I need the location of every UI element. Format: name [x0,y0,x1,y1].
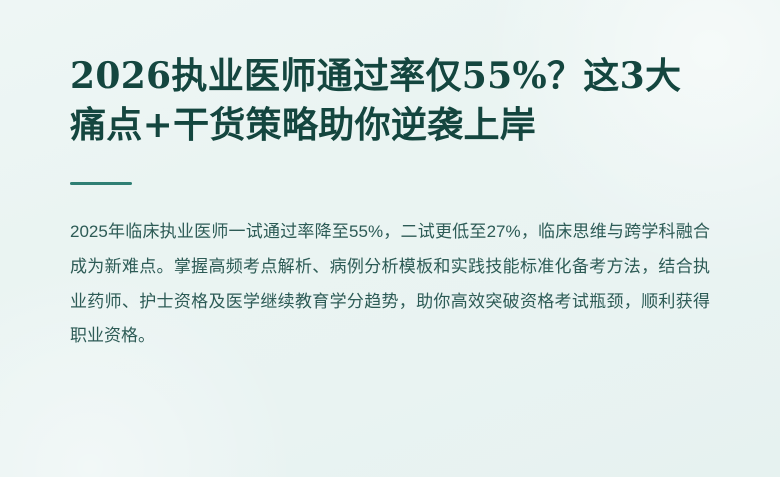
article-card: 2026执业医师通过率仅55%？这3大痛点+干货策略助你逆袭上岸 2025年临床… [0,0,780,477]
page-title: 2026执业医师通过率仅55%？这3大痛点+干货策略助你逆袭上岸 [70,52,710,150]
title-divider [70,182,132,185]
article-summary: 2025年临床执业医师一试通过率降至55%，二试更低至27%，临床思维与跨学科融… [70,215,710,354]
card-content: 2026执业医师通过率仅55%？这3大痛点+干货策略助你逆袭上岸 2025年临床… [0,0,780,354]
